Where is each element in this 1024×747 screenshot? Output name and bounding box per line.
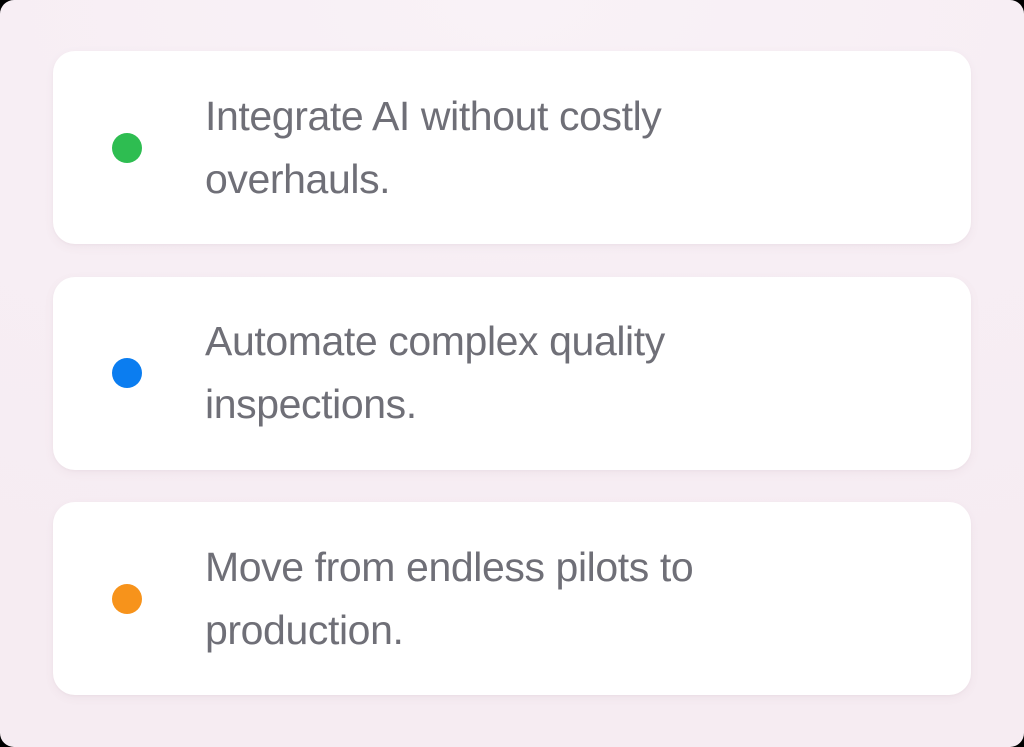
benefit-card-text: Automate complex quality inspections. [205,310,750,436]
status-dot-orange-icon [112,584,142,614]
benefit-card-text: Integrate AI without costly overhauls. [205,85,750,211]
status-dot-green-icon [112,133,142,163]
benefit-card-text: Move from endless pilots to production. [205,536,750,662]
benefit-card-list: Integrate AI without costly overhauls. A… [53,51,971,695]
benefit-card[interactable]: Automate complex quality inspections. [53,277,971,470]
page-panel: Integrate AI without costly overhauls. A… [0,0,1024,747]
status-dot-blue-icon [112,358,142,388]
benefit-card[interactable]: Integrate AI without costly overhauls. [53,51,971,244]
benefit-card[interactable]: Move from endless pilots to production. [53,502,971,695]
